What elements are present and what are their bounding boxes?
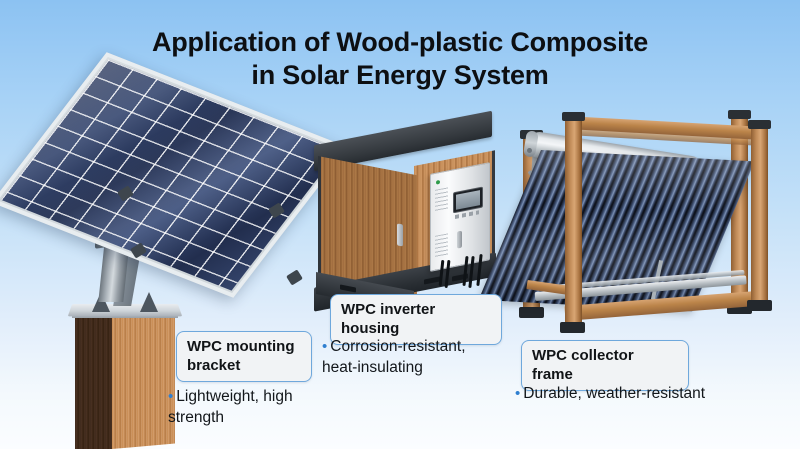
bullet-dot-icon: • xyxy=(322,338,327,355)
callout-bullet-collector-frame: •Durable, weather-resistant xyxy=(515,383,755,404)
callout-bullet-text: Durable, weather-resistant xyxy=(523,385,705,402)
callout-bullet-inverter-housing: •Corrosion-resistant, heat-insulating xyxy=(322,336,502,378)
bullet-dot-icon: • xyxy=(168,388,173,405)
infographic-canvas: Application of Wood-plastic Composite in… xyxy=(0,0,800,449)
post-cap xyxy=(748,120,771,129)
wpc-post xyxy=(75,312,175,449)
post-foot xyxy=(560,322,585,333)
status-led-icon xyxy=(436,180,440,185)
pv-glass-sheen xyxy=(0,57,342,293)
collector-frame-illustration xyxy=(505,110,795,335)
mount-gusset xyxy=(140,292,158,312)
callout-bullet-text: Lightweight, high strength xyxy=(168,388,293,426)
inverter-handle xyxy=(457,231,462,249)
post-cap xyxy=(728,110,751,119)
wpc-post-light-face xyxy=(112,306,175,449)
panel-clamp xyxy=(286,269,303,285)
inverter-label-strip xyxy=(435,233,448,258)
door-handle xyxy=(397,223,403,246)
callout-bullet-text: Corrosion-resistant, heat-insulating xyxy=(322,338,466,376)
wpc-frame-post xyxy=(751,124,768,306)
wpc-frame-post xyxy=(565,116,582,328)
inverter-label-strip xyxy=(435,187,448,212)
post-foot xyxy=(519,307,544,318)
bullet-dot-icon: • xyxy=(515,385,520,402)
post-foot xyxy=(747,300,772,311)
pv-panel xyxy=(0,52,349,297)
lcd-screen xyxy=(456,190,480,210)
post-cap xyxy=(562,112,585,121)
inverter-cabinet-illustration xyxy=(312,120,517,305)
tank-bolt xyxy=(527,148,532,153)
callout-bullet-mounting-bracket: •Lightweight, high strength xyxy=(168,386,323,428)
wpc-post-dark-face xyxy=(75,312,112,449)
callout-label-mounting-bracket[interactable]: WPC mounting bracket xyxy=(176,331,312,382)
